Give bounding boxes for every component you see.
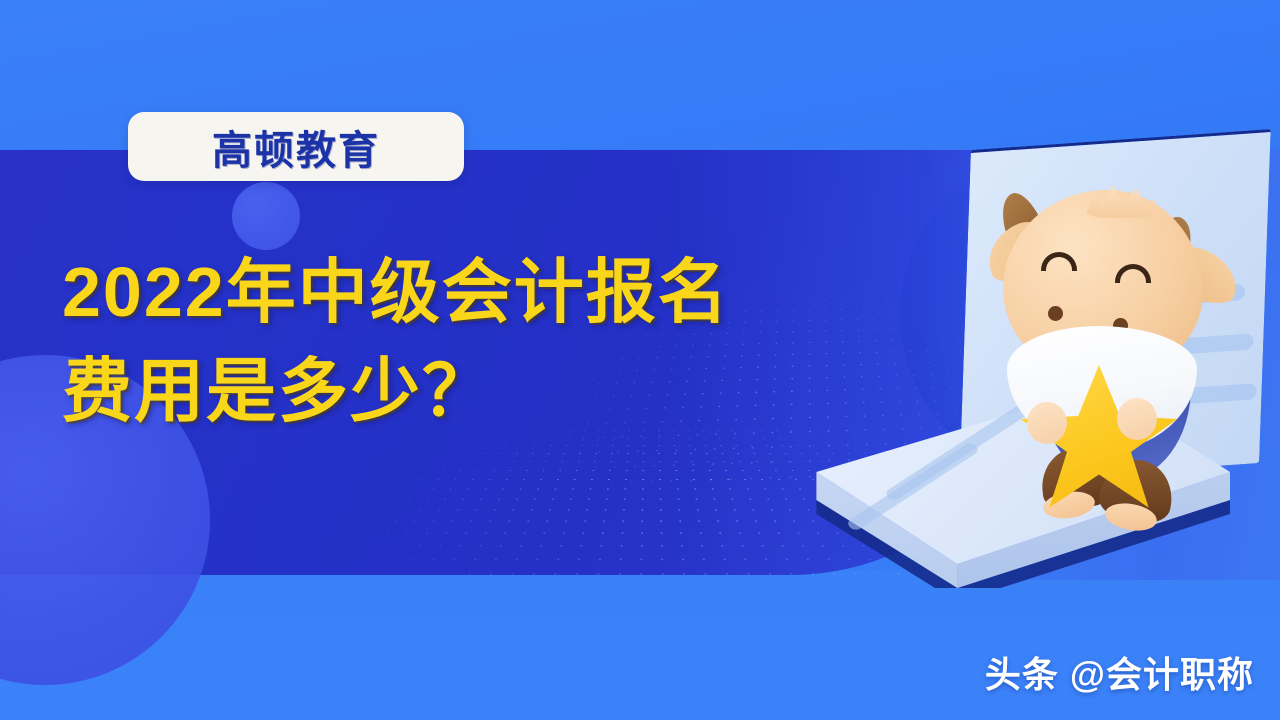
illustration — [760, 120, 1280, 600]
brand-badge: 高顿教育 — [128, 112, 464, 181]
headline-line-1: 2022年中级会计报名 — [62, 243, 882, 342]
headline-line-2: 费用是多少？ — [62, 342, 882, 441]
headline-block: 2022年中级会计报名 费用是多少？ — [62, 243, 882, 442]
decor-circle-small — [232, 182, 300, 250]
watermark-label: 头条 @会计职称 — [985, 646, 1254, 698]
mascot-hand-left — [1027, 402, 1067, 444]
banner-image: 高顿教育 2022年中级会计报名 费用是多少？ — [0, 0, 1280, 720]
brand-label: 高顿教育 — [212, 118, 380, 176]
ox-mascot-icon — [945, 130, 1275, 530]
mascot-nostril-left — [1048, 306, 1063, 321]
mascot-hand-right — [1117, 398, 1157, 440]
